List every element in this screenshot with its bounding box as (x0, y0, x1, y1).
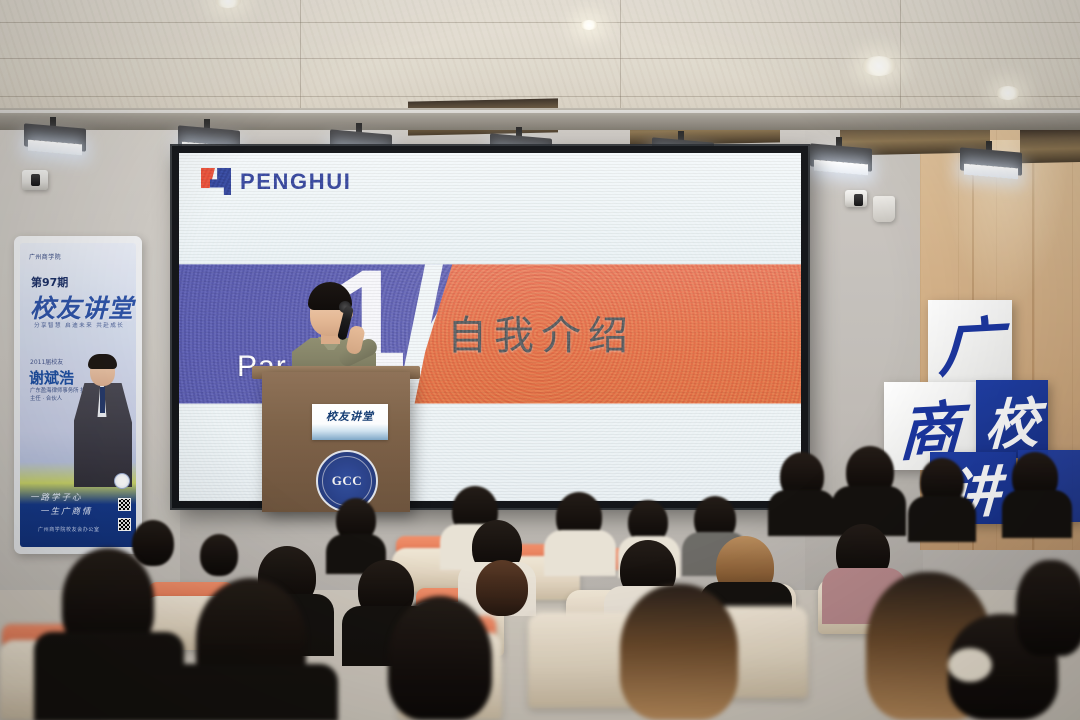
banner-issue-number: 第97期 (31, 274, 68, 290)
wall-camera-icon (845, 190, 867, 207)
stage-light-icon (810, 146, 872, 180)
calligraphy-block-xiao: 校 (976, 380, 1048, 458)
auditorium-photo: 1 Par 自我介绍 PENGHUI 广州商学院 第97期 校友讲堂 分享智慧 … (0, 0, 1080, 720)
ceiling-soffit (1020, 127, 1080, 164)
slide-chinese-title: 自我介绍 (447, 303, 635, 361)
banner-school-logo: 广州商学院 (29, 252, 61, 261)
wall-speaker-icon (873, 196, 895, 222)
calligraphy-glyph: 广 (937, 295, 1002, 389)
banner-slogan-line2: 一生广商情 (40, 506, 93, 519)
banner-grad-year: 2011届校友 (30, 357, 63, 366)
banner-subtitle: 分享智慧 启迪未来 共赴成长 (34, 321, 124, 329)
truss-highlight (0, 110, 1080, 113)
banner-slogan-line1: 一路学子心 (30, 492, 83, 505)
brand-name: PENGHUI (240, 169, 351, 195)
calligraphy-block-guang: 广 (928, 300, 1012, 384)
stage-light-icon (24, 126, 86, 160)
ceiling-downlight-icon (996, 86, 1020, 100)
banner-speaker-name: 谢斌浩 (29, 367, 74, 388)
wall-camera-icon (22, 170, 48, 190)
seal-badge-icon (114, 473, 130, 489)
banner-portrait (72, 355, 134, 487)
rollup-banner-stand: 广州商学院 第97期 校友讲堂 分享智慧 启迪未来 共赴成长 2011届校友 谢… (14, 236, 142, 554)
podium-sign: 校友讲堂 (312, 404, 388, 440)
banner-organizer: 广州商学院校友会办公室 (38, 526, 100, 533)
banner-title: 校友讲堂 (30, 289, 134, 325)
penghui-logo-icon (201, 167, 231, 197)
penghui-brand: PENGHUI (201, 167, 351, 197)
qr-code-icon (118, 498, 131, 511)
rollup-banner: 广州商学院 第97期 校友讲堂 分享智慧 启迪未来 共赴成长 2011届校友 谢… (20, 243, 136, 547)
ceiling-downlight-icon (580, 20, 598, 30)
ceiling-downlight-icon (862, 56, 896, 76)
podium-sign-text: 校友讲堂 (326, 408, 374, 424)
qr-code-icon (118, 518, 131, 531)
stage-light-icon (960, 150, 1022, 184)
